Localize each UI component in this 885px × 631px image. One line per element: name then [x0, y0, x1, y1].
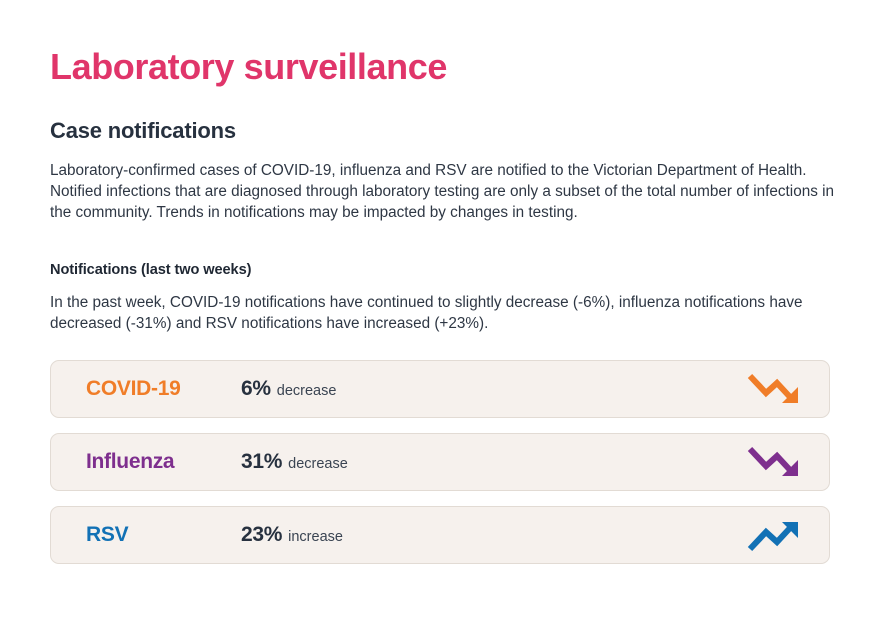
notification-card-label-influenza: Influenza — [51, 450, 241, 474]
notification-card-label-covid-19: COVID-19 — [51, 377, 241, 401]
notification-card-stat-rsv: 23% increase — [241, 523, 719, 547]
notification-card-influenza: Influenza 31% decrease — [50, 433, 830, 491]
notification-card-percent-rsv: 23% — [241, 523, 282, 547]
page-title: Laboratory surveillance — [50, 0, 835, 90]
notification-card-list: COVID-19 6% decrease Influenza 31% decre… — [50, 335, 835, 564]
notifications-summary-paragraph: In the past week, COVID-19 notifications… — [50, 280, 835, 335]
notification-card-stat-covid-19: 6% decrease — [241, 377, 719, 401]
trend-down-arrow-icon — [719, 370, 829, 408]
notification-card-covid-19: COVID-19 6% decrease — [50, 360, 830, 418]
section-heading-case-notifications: Case notifications — [50, 90, 835, 145]
notification-card-percent-influenza: 31% — [241, 450, 282, 474]
notification-card-percent-covid-19: 6% — [241, 377, 271, 401]
notification-card-direction-influenza: decrease — [288, 456, 348, 472]
laboratory-surveillance-page: Laboratory surveillance Case notificatio… — [0, 0, 885, 631]
case-notifications-intro-paragraph: Laboratory-confirmed cases of COVID-19, … — [50, 145, 835, 223]
trend-down-arrow-icon — [719, 443, 829, 481]
notification-card-rsv: RSV 23% increase — [50, 506, 830, 564]
trend-up-arrow-icon — [719, 516, 829, 554]
notification-card-label-rsv: RSV — [51, 523, 241, 547]
notification-card-direction-covid-19: decrease — [277, 383, 337, 399]
notification-card-direction-rsv: increase — [288, 529, 343, 545]
sub-heading-notifications-last-two-weeks: Notifications (last two weeks) — [50, 223, 835, 280]
notification-card-stat-influenza: 31% decrease — [241, 450, 719, 474]
